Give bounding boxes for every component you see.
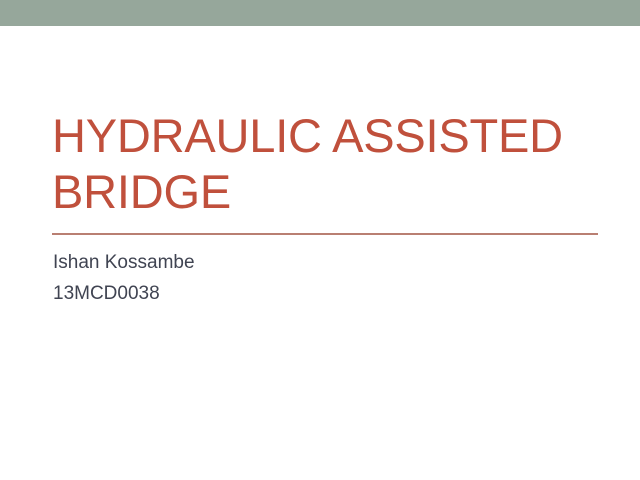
subtitle-block: Ishan Kossambe 13MCD0038: [53, 247, 599, 309]
subtitle-author-name: Ishan Kossambe: [53, 247, 599, 278]
presentation-title-slide: Hydraulic Assisted Bridge Ishan Kossambe…: [0, 0, 640, 480]
subtitle-registration-number: 13MCD0038: [53, 278, 599, 309]
page-title: Hydraulic Assisted Bridge: [52, 108, 598, 220]
title-block: Hydraulic Assisted Bridge: [52, 108, 598, 220]
title-divider-rule: [52, 233, 598, 235]
slide-top-accent-bar: [0, 0, 640, 26]
